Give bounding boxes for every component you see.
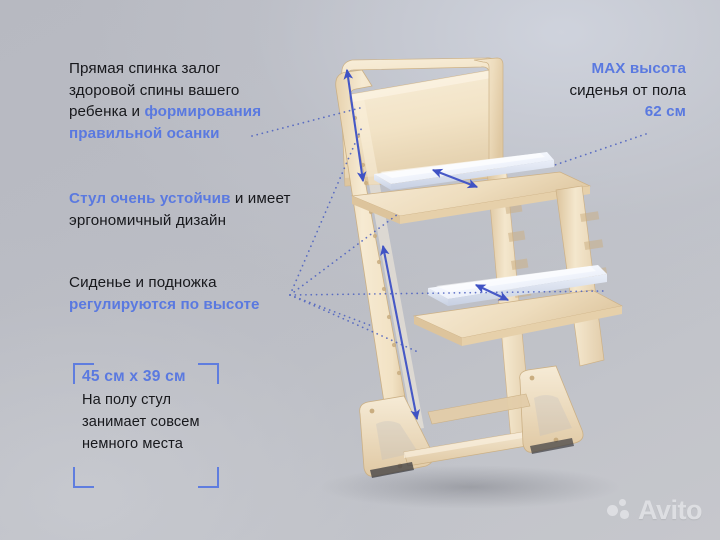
- adjust-line-2-highlight: регулируются по высоте: [69, 296, 260, 313]
- footprint-frame-corner-bottom-left: [73, 467, 94, 488]
- promo-image: Прямая спинка залог здоровой спины вашег…: [0, 0, 720, 540]
- stability-highlight: Стул очень устойчив: [69, 190, 231, 207]
- footprint-line-1: На полу стул: [82, 390, 242, 412]
- stability-line-2: эргономичный дизайн: [69, 212, 226, 229]
- text-block-posture: Прямая спинка залог здоровой спины вашег…: [69, 58, 324, 144]
- posture-line-2: здоровой спины вашего: [69, 82, 239, 99]
- footprint-line-2: занимает совсем: [82, 412, 242, 434]
- posture-line-1: Прямая спинка залог: [69, 60, 220, 77]
- posture-line-3-highlight: формирования: [144, 103, 261, 120]
- max-height-highlight: MAX высота: [591, 60, 686, 77]
- posture-line-4-highlight: правильной осанки: [69, 125, 220, 142]
- max-height-line-2: сиденья от пола: [569, 82, 686, 99]
- avito-wordmark: Avito: [638, 495, 702, 526]
- avito-watermark: Avito: [607, 495, 702, 526]
- text-block-stability: Стул очень устойчив и имеет эргономичный…: [69, 188, 337, 231]
- text-block-adjustable: Сиденье и подножка регулируются по высот…: [69, 272, 324, 315]
- max-height-value: 62 см: [645, 103, 686, 120]
- footprint-frame-corner-top-right: [198, 363, 219, 384]
- posture-line-3-plain: ребенка и: [69, 103, 144, 120]
- text-block-max-height: MAX высота сиденья от пола 62 см: [496, 58, 686, 123]
- footprint-frame-corner-bottom-right: [198, 467, 219, 488]
- footprint-line-3: немного места: [82, 434, 242, 456]
- stability-plain: и имеет: [231, 190, 291, 207]
- avito-dots-icon: [607, 498, 632, 523]
- adjust-line-1: Сиденье и подножка: [69, 274, 217, 291]
- footprint-frame-corner-top-left: [73, 363, 94, 384]
